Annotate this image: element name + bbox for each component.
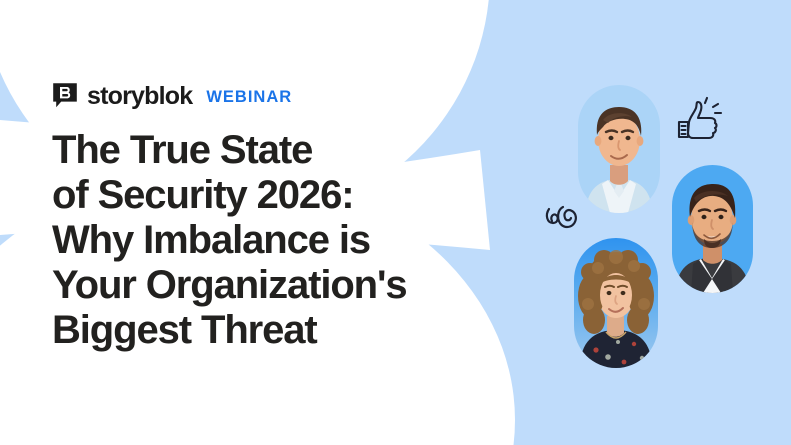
storyblok-logo[interactable]: storyblok bbox=[52, 82, 192, 109]
webinar-badge: WEBINAR bbox=[206, 89, 292, 106]
speaker-photo-3 bbox=[574, 238, 658, 368]
headline-line-1: The True State bbox=[52, 128, 522, 173]
storyblok-speech-bubble-b-logo-icon bbox=[52, 82, 78, 109]
speaker-photo-2 bbox=[672, 165, 753, 293]
thumbs-up-icon bbox=[672, 96, 728, 150]
webinar-banner: storyblok WEBINAR The True State of Secu… bbox=[0, 0, 791, 445]
swirl-icon bbox=[543, 199, 589, 239]
speaker-photo-1 bbox=[578, 85, 660, 213]
headline-line-4: Your Organization's bbox=[52, 263, 522, 308]
headline-line-3: Why Imbalance is bbox=[52, 218, 522, 263]
headline-line-5: Biggest Threat bbox=[52, 308, 522, 353]
speaker-3-portrait-illustration bbox=[574, 238, 658, 368]
speaker-1-portrait-illustration bbox=[578, 85, 660, 213]
headline-line-2: of Security 2026: bbox=[52, 173, 522, 218]
speaker-2-portrait-illustration bbox=[672, 165, 753, 293]
storyblok-wordmark: storyblok bbox=[87, 84, 192, 109]
page-title: The True State of Security 2026: Why Imb… bbox=[52, 128, 522, 353]
brand-row: storyblok WEBINAR bbox=[52, 82, 292, 109]
